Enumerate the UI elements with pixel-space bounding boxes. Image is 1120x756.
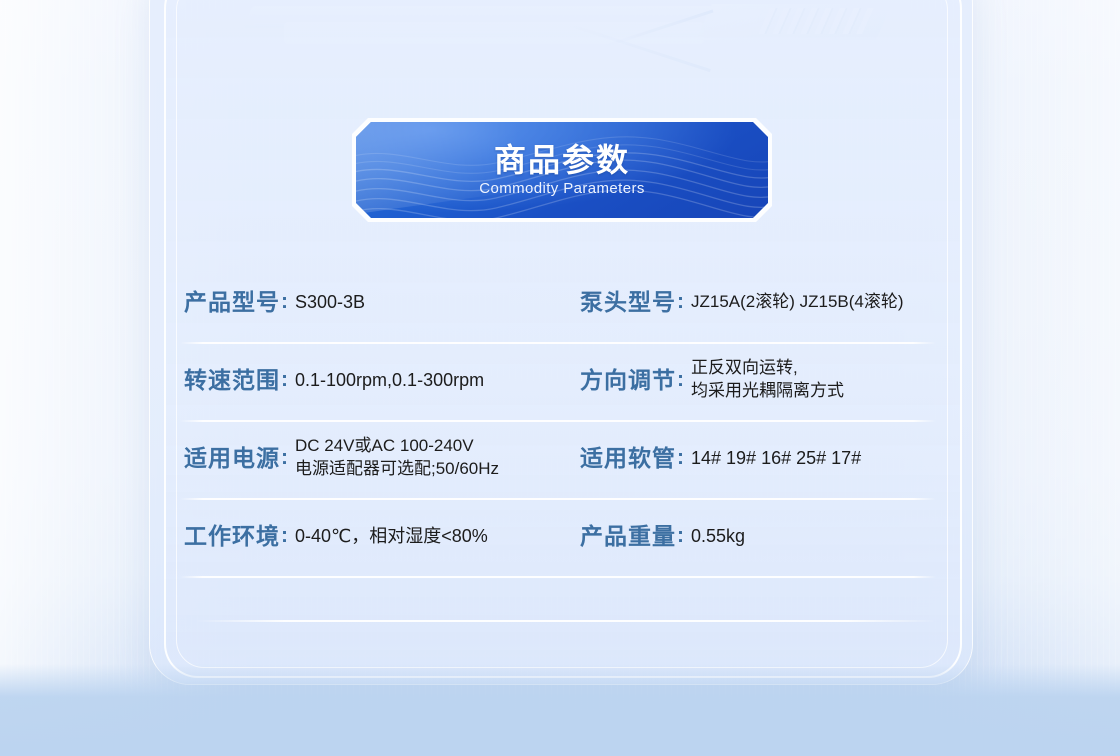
product-parameters-page: 商品参数 Commodity Parameters 产品型号 : S300-3B… (0, 0, 1120, 756)
spec-value: 0.55kg (691, 524, 745, 548)
spec-item-product-weight: 产品重量 : 0.55kg (574, 500, 946, 578)
section-banner: 商品参数 Commodity Parameters (352, 118, 772, 222)
frosted-card-bottom-highlight (196, 620, 936, 622)
spec-colon: : (677, 445, 684, 471)
spec-colon: : (281, 445, 288, 471)
spec-item-product-model: 产品型号 : S300-3B (176, 266, 574, 344)
spec-value: S300-3B (295, 290, 365, 314)
spec-colon: : (677, 367, 684, 393)
spec-label: 适用电源 (184, 444, 280, 473)
spec-value: 正反双向运转, 均采用光耦隔离方式 (691, 357, 844, 403)
spec-colon: : (281, 289, 288, 315)
spec-value: 0.1-100rpm,0.1-300rpm (295, 368, 484, 392)
banner-octagon-plate: 商品参数 Commodity Parameters (356, 122, 768, 218)
banner-title-chinese: 商品参数 (494, 143, 630, 178)
spec-colon: : (677, 289, 684, 315)
spec-label: 产品型号 (184, 288, 280, 317)
spec-item-speed-range: 转速范围 : 0.1-100rpm,0.1-300rpm (176, 344, 574, 422)
spec-label: 适用软管 (580, 444, 676, 473)
spec-label: 产品重量 (580, 522, 676, 551)
spec-colon: : (677, 523, 684, 549)
spec-row: 产品型号 : S300-3B 泵头型号 : JZ15A(2滚轮) JZ15B(4… (176, 266, 946, 344)
spec-row: 工作环境 : 0-40℃，相对湿度<80% 产品重量 : 0.55kg (176, 500, 946, 578)
spec-item-pump-head-model: 泵头型号 : JZ15A(2滚轮) JZ15B(4滚轮) (574, 266, 946, 344)
spec-value: 14# 19# 16# 25# 17# (691, 446, 861, 470)
spec-label: 转速范围 (184, 366, 280, 395)
spec-item-working-environment: 工作环境 : 0-40℃，相对湿度<80% (176, 500, 574, 578)
spec-row: 适用电源 : DC 24V或AC 100-240V 电源适配器可选配;50/60… (176, 422, 946, 500)
spec-colon: : (281, 367, 288, 393)
spec-item-direction-adjustment: 方向调节 : 正反双向运转, 均采用光耦隔离方式 (574, 344, 946, 422)
spec-row-divider (180, 576, 936, 578)
spec-value: 0-40℃，相对湿度<80% (295, 524, 488, 548)
spec-value: DC 24V或AC 100-240V 电源适配器可选配;50/60Hz (295, 435, 499, 481)
spec-value: JZ15A(2滚轮) JZ15B(4滚轮) (691, 291, 904, 314)
spec-label: 方向调节 (580, 366, 676, 395)
spec-label: 工作环境 (184, 522, 280, 551)
banner-title-english: Commodity Parameters (479, 180, 645, 197)
spec-row: 转速范围 : 0.1-100rpm,0.1-300rpm 方向调节 : 正反双向… (176, 344, 946, 422)
spec-label: 泵头型号 (580, 288, 676, 317)
banner-text-block: 商品参数 Commodity Parameters (356, 122, 768, 218)
spec-item-power-supply: 适用电源 : DC 24V或AC 100-240V 电源适配器可选配;50/60… (176, 422, 574, 500)
spec-item-applicable-hose: 适用软管 : 14# 19# 16# 25# 17# (574, 422, 946, 500)
spec-colon: : (281, 523, 288, 549)
specifications-table: 产品型号 : S300-3B 泵头型号 : JZ15A(2滚轮) JZ15B(4… (176, 266, 946, 578)
